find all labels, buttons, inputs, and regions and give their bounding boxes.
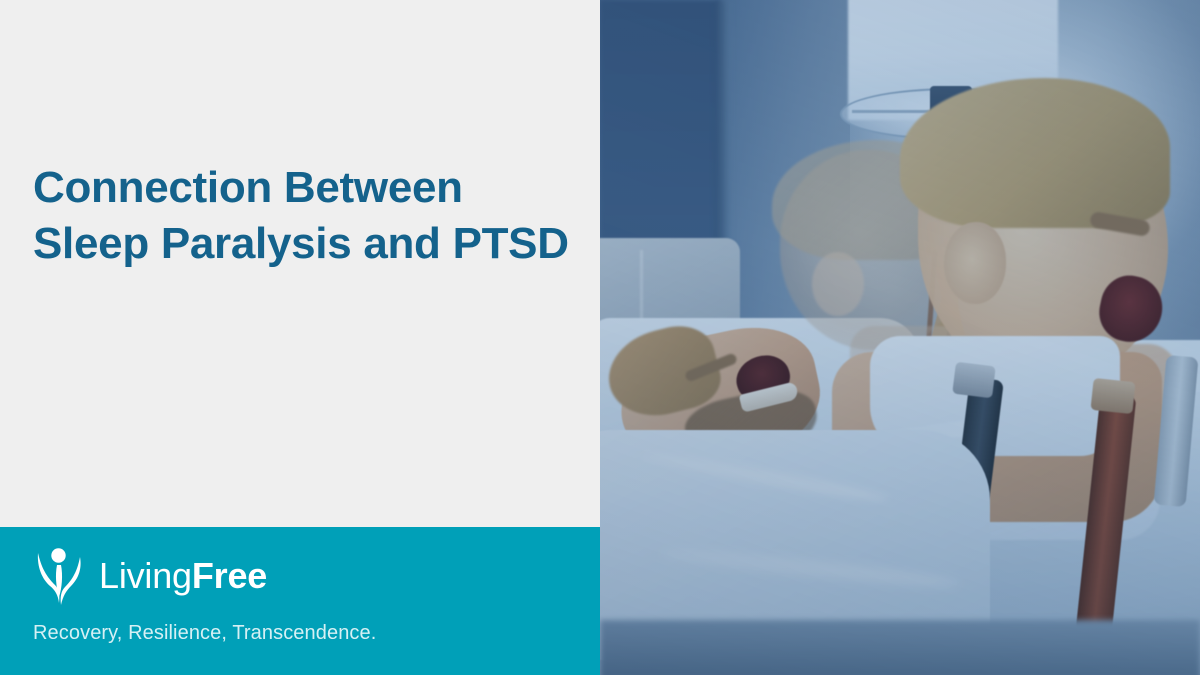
brand-wordmark: LivingFree — [99, 558, 267, 594]
brand-word-light: Living — [99, 555, 192, 596]
brand-lockup[interactable]: LivingFree — [33, 545, 267, 607]
photo-cool-overlay — [600, 0, 1200, 675]
photo-scene — [600, 0, 1200, 675]
left-content-panel: Connection Between Sleep Paralysis and P… — [0, 0, 600, 527]
hero-photo — [600, 0, 1200, 675]
brand-footer-bar: LivingFree Recovery, Resilience, Transce… — [0, 527, 600, 675]
brand-word-bold: Free — [192, 555, 267, 596]
brand-tagline: Recovery, Resilience, Transcendence. — [33, 622, 376, 645]
banner-canvas: Connection Between Sleep Paralysis and P… — [0, 0, 1200, 675]
page-title: Connection Between Sleep Paralysis and P… — [33, 160, 573, 273]
person-raising-arms-icon — [33, 545, 85, 607]
